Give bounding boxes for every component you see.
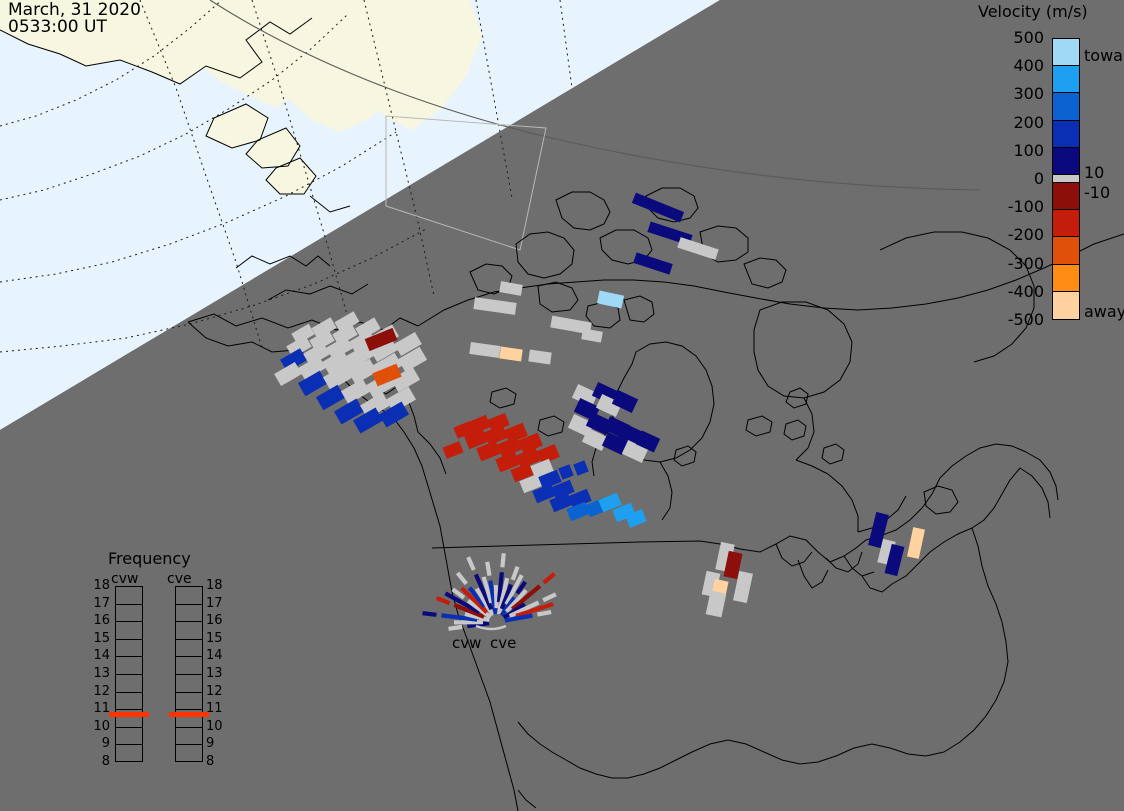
colorbar-segment — [1053, 175, 1079, 183]
frequency-cell — [176, 640, 202, 658]
timestamp: March, 31 2020 0533:00 UT — [8, 2, 141, 36]
frequency-cell — [176, 587, 202, 605]
colorbar-tick-label: 0 — [996, 169, 1044, 188]
colorbar-title: Velocity (m/s) — [978, 2, 1088, 21]
colorbar-tick-label: 400 — [996, 56, 1044, 75]
radar-beam — [544, 574, 555, 583]
time-text: 0533:00 UT — [8, 19, 141, 36]
radar-beam — [458, 573, 467, 584]
frequency-cell — [116, 745, 142, 763]
site-label-cvw: cvw — [452, 634, 481, 652]
frequency-column-name-cvw: cvw — [111, 571, 138, 587]
radar-beam — [543, 594, 556, 600]
frequency-cell — [116, 622, 142, 640]
radar-velocity-map: cvw cve March, 31 2020 0533:00 UT Veloci… — [0, 0, 1124, 811]
colorbar-tick-label: -300 — [996, 254, 1044, 273]
colorbar-tick-label: 200 — [996, 113, 1044, 132]
frequency-tick-label: 16 — [88, 613, 110, 628]
frequency-cell — [176, 657, 202, 675]
frequency-legend-title: Frequency — [108, 549, 191, 568]
colorbar-pos-threshold-label: 10 — [1084, 163, 1104, 182]
frequency-tick-label: 8 — [88, 754, 110, 769]
frequency-tick-label: 14 — [88, 648, 110, 663]
frequency-tick-label: 8 — [206, 754, 228, 769]
colorbar-segment — [1053, 237, 1079, 264]
colorbar-segment — [1053, 292, 1079, 319]
radar-beam — [437, 598, 450, 603]
frequency-tick-label: 15 — [206, 631, 228, 646]
frequency-tick-label: 12 — [88, 684, 110, 699]
colorbar-away-label: away — [1084, 302, 1124, 321]
colorbar-segment — [1053, 39, 1079, 66]
colorbar-neg-threshold-label: -10 — [1084, 183, 1110, 202]
frequency-cell — [176, 675, 202, 693]
frequency-cell — [116, 693, 142, 711]
radar-beam — [423, 613, 437, 615]
frequency-tick-label: 13 — [206, 666, 228, 681]
frequency-tick-label: 17 — [206, 596, 228, 611]
colorbar-tick-label: 100 — [996, 141, 1044, 160]
colorbar-segment — [1053, 265, 1079, 292]
radar-beam — [468, 557, 474, 570]
colorbar-segment — [1053, 210, 1079, 237]
radar-beam — [502, 553, 503, 567]
frequency-column-cve — [175, 586, 203, 762]
radar-range-arc — [476, 626, 506, 629]
velocity-colorbar — [1052, 38, 1080, 320]
frequency-cell — [116, 605, 142, 623]
frequency-marker-cve — [169, 712, 209, 717]
colorbar-tick-label: -100 — [996, 197, 1044, 216]
frequency-tick-label: 13 — [88, 666, 110, 681]
frequency-tick-label: 10 — [88, 719, 110, 734]
radar-beam — [487, 562, 489, 576]
colorbar-tick-label: 300 — [996, 84, 1044, 103]
frequency-tick-label: 9 — [88, 736, 110, 751]
frequency-cell — [176, 622, 202, 640]
radar-beam-fan — [0, 0, 1124, 811]
frequency-cell — [176, 745, 202, 763]
colorbar-tick-label: -400 — [996, 282, 1044, 301]
frequency-tick-label: 9 — [206, 736, 228, 751]
frequency-tick-label: 14 — [206, 648, 228, 663]
colorbar-segment — [1053, 93, 1079, 120]
frequency-cell — [116, 640, 142, 658]
radar-beam — [537, 612, 551, 615]
frequency-cell — [176, 728, 202, 746]
frequency-cell — [116, 728, 142, 746]
frequency-column-name-cve: cve — [167, 571, 192, 587]
frequency-tick-label: 16 — [206, 613, 228, 628]
frequency-tick-label: 15 — [88, 631, 110, 646]
radar-beam — [513, 567, 518, 580]
frequency-cell — [176, 605, 202, 623]
frequency-marker-cvw — [109, 712, 149, 717]
frequency-tick-label: 11 — [88, 701, 110, 716]
frequency-cell — [176, 693, 202, 711]
radar-beam — [496, 585, 497, 608]
colorbar-segment — [1053, 66, 1079, 93]
frequency-tick-label: 12 — [206, 684, 228, 699]
frequency-column-cvw — [115, 586, 143, 762]
colorbar-toward-label: toward — [1084, 46, 1124, 65]
frequency-tick-label: 18 — [206, 578, 228, 593]
site-label-cve: cve — [490, 634, 516, 652]
frequency-tick-label: 10 — [206, 719, 228, 734]
frequency-cell — [116, 675, 142, 693]
colorbar-segment — [1053, 183, 1079, 210]
colorbar-segment — [1053, 148, 1079, 175]
colorbar-segment — [1053, 121, 1079, 148]
colorbar-tick-label: -200 — [996, 225, 1044, 244]
radar-beam — [448, 627, 462, 629]
frequency-tick-label: 17 — [88, 596, 110, 611]
colorbar-tick-label: 500 — [996, 28, 1044, 47]
frequency-cell — [116, 587, 142, 605]
frequency-tick-label: 18 — [88, 578, 110, 593]
frequency-cell — [116, 657, 142, 675]
frequency-tick-label: 11 — [206, 701, 228, 716]
colorbar-tick-label: -500 — [996, 310, 1044, 329]
